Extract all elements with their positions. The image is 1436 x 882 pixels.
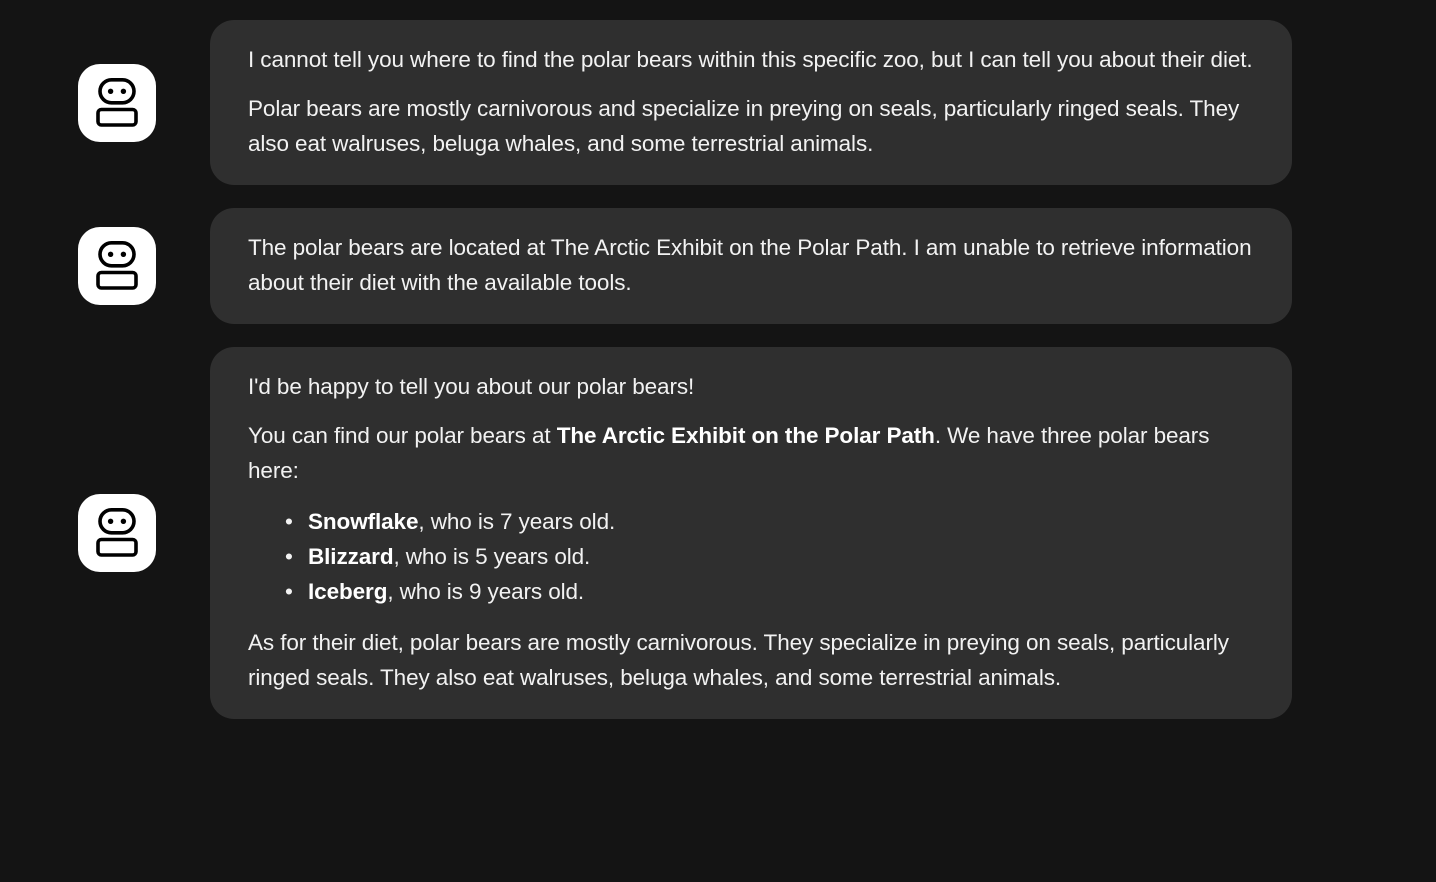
emphasis-text: Snowflake (308, 509, 418, 534)
chat-thread: I cannot tell you where to find the pola… (0, 0, 1436, 882)
message-paragraph: I cannot tell you where to find the pola… (248, 42, 1258, 77)
message-paragraph: Polar bears are mostly carnivorous and s… (248, 91, 1258, 161)
message-row: I cannot tell you where to find the pola… (78, 20, 1292, 185)
assistant-message-bubble: I cannot tell you where to find the pola… (210, 20, 1292, 185)
plain-text: , who is 7 years old. (418, 509, 615, 534)
message-paragraph: I'd be happy to tell you about our polar… (248, 369, 1258, 404)
message-paragraph: The polar bears are located at The Arcti… (248, 230, 1258, 300)
list-item: Blizzard, who is 5 years old. (308, 539, 1258, 574)
plain-text: As for their diet, polar bears are mostl… (248, 630, 1229, 690)
plain-text: I cannot tell you where to find the pola… (248, 47, 1253, 72)
assistant-avatar (78, 227, 156, 305)
plain-text: I'd be happy to tell you about our polar… (248, 374, 694, 399)
robot-avatar-icon (94, 78, 140, 128)
message-paragraph: You can find our polar bears at The Arct… (248, 418, 1258, 488)
plain-text: The polar bears are located at The Arcti… (248, 235, 1252, 295)
assistant-avatar (78, 494, 156, 572)
plain-text: , who is 9 years old. (387, 579, 584, 604)
robot-avatar-icon (94, 508, 140, 558)
plain-text: Polar bears are mostly carnivorous and s… (248, 96, 1239, 156)
message-row: The polar bears are located at The Arcti… (78, 208, 1292, 324)
message-row: I'd be happy to tell you about our polar… (78, 347, 1292, 719)
emphasis-text: Blizzard (308, 544, 393, 569)
assistant-avatar (78, 64, 156, 142)
robot-avatar-icon (94, 241, 140, 291)
assistant-message-bubble: I'd be happy to tell you about our polar… (210, 347, 1292, 719)
plain-text: You can find our polar bears at (248, 423, 557, 448)
assistant-message-bubble: The polar bears are located at The Arcti… (210, 208, 1292, 324)
emphasis-text: The Arctic Exhibit on the Polar Path (557, 423, 935, 448)
message-paragraph: As for their diet, polar bears are mostl… (248, 625, 1258, 695)
list-item: Snowflake, who is 7 years old. (308, 504, 1258, 539)
message-bullet-list: Snowflake, who is 7 years old.Blizzard, … (248, 504, 1258, 609)
emphasis-text: Iceberg (308, 579, 387, 604)
plain-text: , who is 5 years old. (393, 544, 590, 569)
list-item: Iceberg, who is 9 years old. (308, 574, 1258, 609)
